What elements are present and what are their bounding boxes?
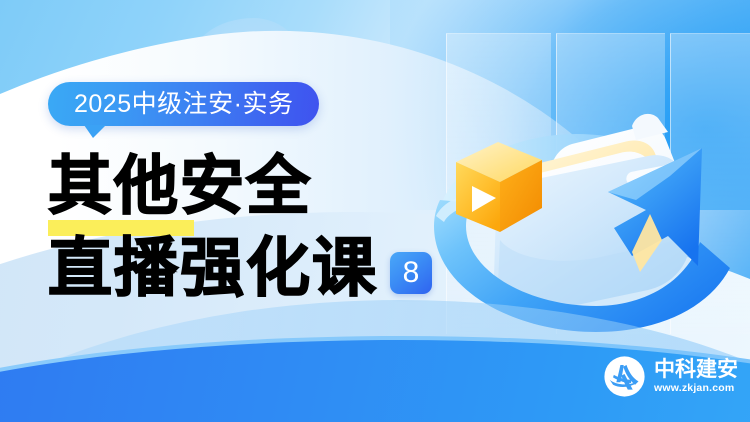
circular-arrow-ring-back (438, 134, 692, 228)
badge-label: 2025中级注安·实务 (74, 92, 293, 117)
play-cube (456, 142, 542, 232)
course-banner: 2025中级注安·实务 其他安全 直播强化课 8 中科建安 www.zkjan. (0, 0, 750, 422)
headline-line-2-text: 直播强化课 (48, 232, 378, 306)
brand-logo: 中科建安 www.zkjan.com (604, 356, 738, 397)
headline-line-1: 其他安全 (48, 150, 468, 228)
logo-brand-name: 中科建安 (654, 358, 738, 381)
headline-line-1-text: 其他安全 (48, 150, 312, 224)
logo-text-block: 中科建安 www.zkjan.com (654, 358, 738, 395)
badge-pill: 2025中级注安·实务 (48, 82, 319, 126)
zkjan-circle-logo-icon (604, 356, 645, 397)
circular-arrow-ring-front (434, 148, 730, 332)
document-folder-stack (494, 114, 690, 321)
episode-number-badge: 8 (390, 252, 432, 294)
episode-number: 8 (403, 258, 420, 288)
logo-website-url: www.zkjan.com (654, 381, 738, 395)
headline-line-2: 直播强化课 8 (48, 228, 468, 306)
course-category-badge: 2025中级注安·实务 (48, 82, 319, 126)
glass-panel-right (670, 33, 750, 334)
badge-tail-icon (84, 125, 106, 138)
glass-panel-middle (556, 33, 665, 334)
headline-block: 其他安全 直播强化课 8 (48, 150, 468, 306)
